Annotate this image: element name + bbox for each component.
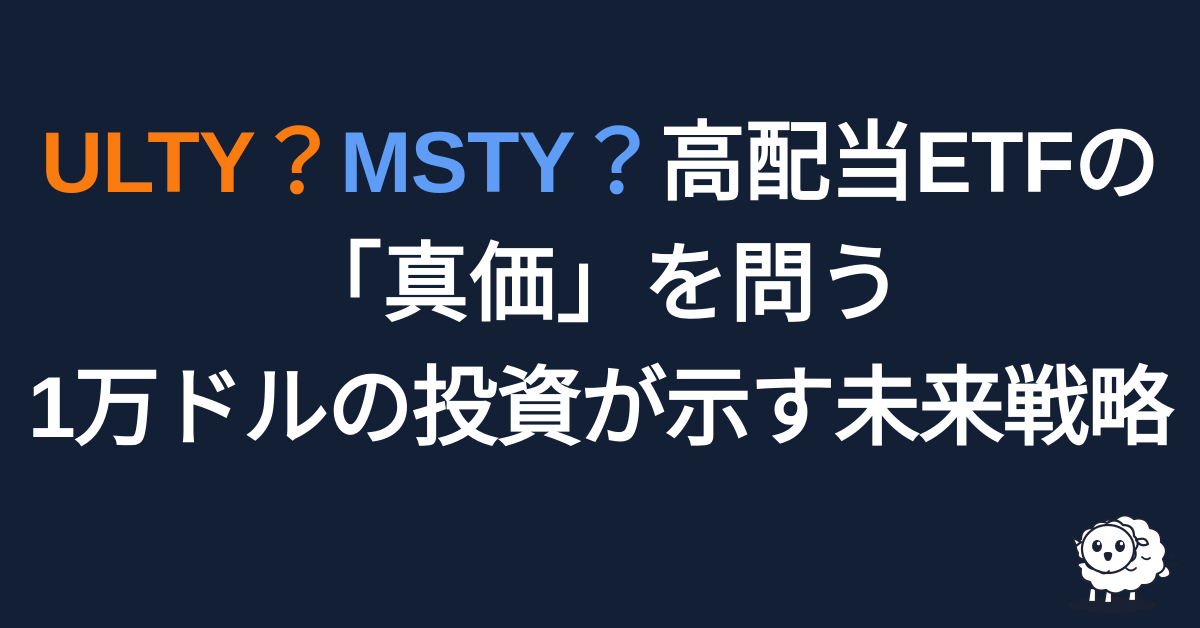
headline-line-1-tail: 高配当ETFの xyxy=(660,120,1159,206)
headline-line-2-text: 「真価」を問う xyxy=(296,241,904,327)
ticker-ulty-text: ULTY？ xyxy=(41,120,340,206)
sheep-mascot-icon xyxy=(1038,502,1178,620)
headline-line-2: 「真価」を問う xyxy=(0,222,1200,346)
thumbnail-card: ULTY？MSTY？高配当ETFの 「真価」を問う 1万ドルの投資が示す未来戦略 xyxy=(0,0,1200,628)
headline-line-3-text: 1万ドルの投資が示す未来戦略 xyxy=(28,365,1172,451)
headline-line-3: 1万ドルの投資が示す未来戦略 xyxy=(0,346,1200,470)
ticker-msty-text: MSTY？ xyxy=(340,120,660,206)
headline-line-1: ULTY？MSTY？高配当ETFの xyxy=(0,104,1200,222)
headline-block: ULTY？MSTY？高配当ETFの 「真価」を問う 1万ドルの投資が示す未来戦略 xyxy=(0,0,1200,500)
